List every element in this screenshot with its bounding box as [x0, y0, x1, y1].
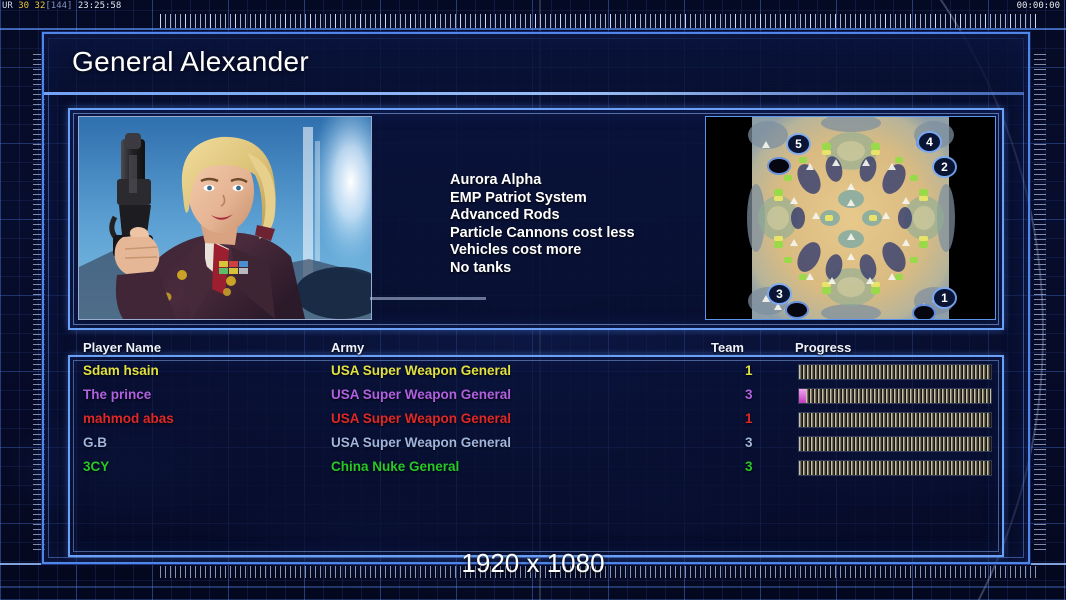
ability-item: Advanced Rods	[450, 207, 635, 225]
progress-bar-texture	[799, 461, 991, 475]
status-num1: 30	[18, 1, 29, 11]
status-left: UR 30 32[144] 23:25:58	[2, 0, 121, 12]
game-screen: UR 30 32[144] 23:25:58 00:00:00 General …	[0, 0, 1066, 600]
players-table: Sdam hsainUSA Super Weapon General1The p…	[68, 362, 1000, 482]
title-underline	[44, 92, 1024, 95]
resolution-label: 1920 x 1080	[0, 548, 1066, 579]
cell-team: 3	[745, 386, 753, 404]
cell-team: 3	[745, 434, 753, 452]
progress-bar	[798, 364, 992, 380]
progress-bar-segment	[799, 389, 806, 403]
ruler-top	[160, 14, 1040, 28]
header-team: Team	[711, 340, 744, 355]
general-info-panel: Aurora Alpha EMP Patriot System Advanced…	[68, 108, 1004, 330]
cell-army: USA Super Weapon General	[331, 410, 511, 428]
status-num2: 32	[35, 1, 46, 11]
minimap-start-positions: 54231	[706, 117, 995, 319]
status-bracket: [144]	[45, 1, 72, 11]
minimap[interactable]: 54231	[705, 116, 996, 320]
header-player-name: Player Name	[83, 340, 161, 355]
progress-bar	[798, 460, 992, 476]
accent-bar-left	[370, 297, 486, 300]
minimap-start-position[interactable]: 5	[788, 135, 809, 153]
table-row: Sdam hsainUSA Super Weapon General1	[68, 362, 1000, 386]
status-clock: 23:25:58	[78, 1, 121, 11]
cell-army: USA Super Weapon General	[331, 362, 511, 380]
table-header-row: Player Name Army Team Progress	[68, 340, 1000, 358]
minimap-marker	[787, 303, 807, 317]
minimap-marker	[769, 159, 789, 173]
status-bar: UR 30 32[144] 23:25:58 00:00:00	[0, 0, 1066, 12]
cell-player-name: G.B	[83, 434, 107, 452]
cell-team: 3	[745, 458, 753, 476]
minimap-start-position[interactable]: 2	[934, 158, 955, 176]
ability-item: Particle Cannons cost less	[450, 225, 635, 243]
minimap-start-position[interactable]: 4	[919, 133, 940, 151]
ability-item: No tanks	[450, 260, 635, 278]
ability-item: Vehicles cost more	[450, 242, 635, 260]
table-row: G.BUSA Super Weapon General3	[68, 434, 1000, 458]
accent-line-top	[0, 28, 1066, 30]
progress-bar-texture	[799, 437, 991, 451]
page-title: General Alexander	[72, 46, 309, 78]
cell-team: 1	[745, 362, 753, 380]
ruler-right	[1034, 50, 1046, 550]
header-progress: Progress	[795, 340, 851, 355]
status-prefix: UR	[2, 1, 13, 11]
cell-player-name: The prince	[83, 386, 151, 404]
cell-team: 1	[745, 410, 753, 428]
table-row: The princeUSA Super Weapon General3	[68, 386, 1000, 410]
minimap-start-position[interactable]: 1	[934, 289, 955, 307]
minimap-marker	[914, 306, 934, 320]
cell-army: USA Super Weapon General	[331, 386, 511, 404]
progress-bar	[798, 388, 992, 404]
cell-army: USA Super Weapon General	[331, 434, 511, 452]
general-portrait	[78, 116, 372, 320]
table-row: 3CYChina Nuke General3	[68, 458, 1000, 482]
cell-player-name: 3CY	[83, 458, 109, 476]
ability-list: Aurora Alpha EMP Patriot System Advanced…	[450, 172, 635, 278]
progress-bar	[798, 436, 992, 452]
minimap-start-position[interactable]: 3	[769, 285, 790, 303]
cell-army: China Nuke General	[331, 458, 459, 476]
progress-bar-texture	[799, 365, 991, 379]
accent-line-footer	[0, 586, 1066, 588]
progress-bar-texture	[799, 413, 991, 427]
ability-item: EMP Patriot System	[450, 190, 635, 208]
progress-bar-texture	[806, 389, 991, 403]
progress-bar	[798, 412, 992, 428]
cell-player-name: Sdam hsain	[83, 362, 159, 380]
ability-item: Aurora Alpha	[450, 172, 635, 190]
table-row: mahmod abasUSA Super Weapon General1	[68, 410, 1000, 434]
header-army: Army	[331, 340, 364, 355]
cell-player-name: mahmod abas	[83, 410, 174, 428]
status-right-clock: 00:00:00	[1017, 0, 1060, 12]
